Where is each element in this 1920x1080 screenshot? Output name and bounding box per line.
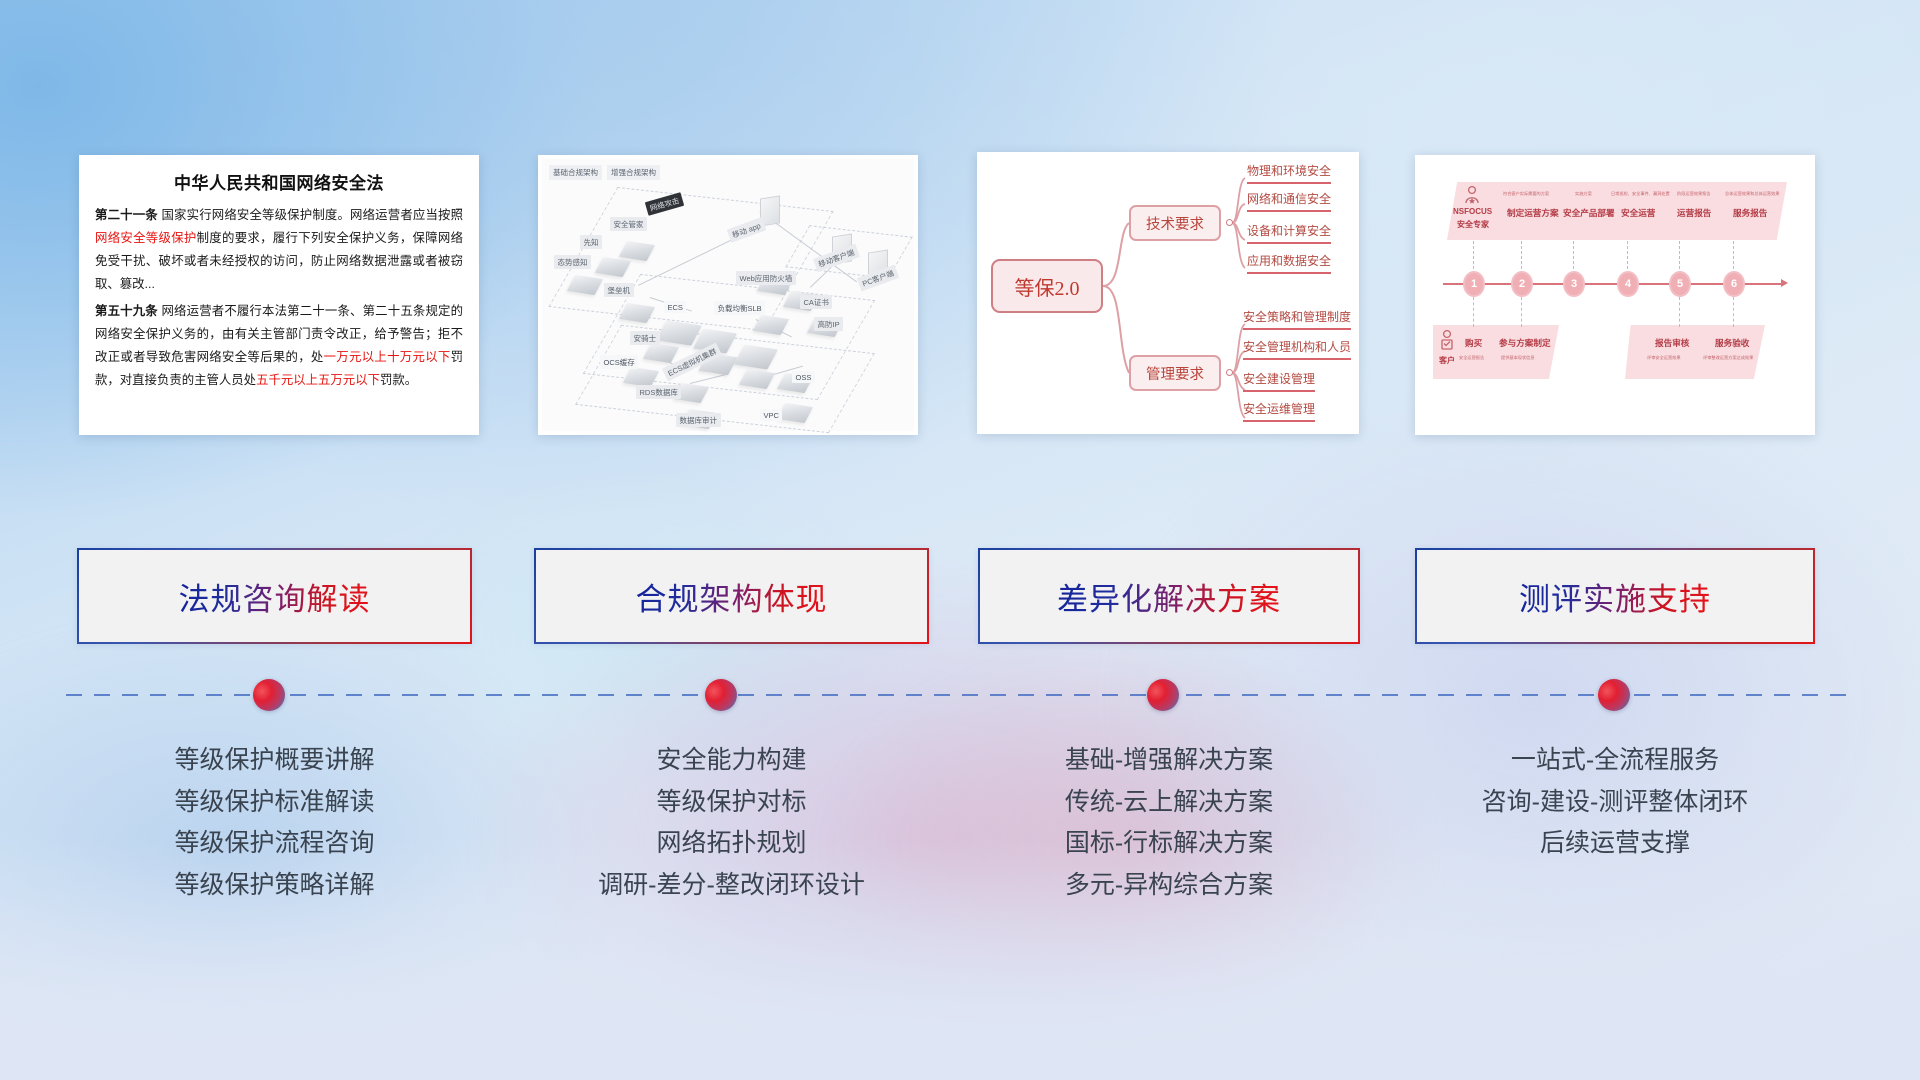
timeline-dot-4[interactable] bbox=[1598, 679, 1630, 711]
nsfocus-step-marker: 4 bbox=[1617, 271, 1639, 297]
law-paragraph: 第五十九条 网络运营者不履行本法第二十一条、第二十五条规定的网络安全保护义务的，… bbox=[95, 300, 463, 392]
nsfocus-connector bbox=[1733, 241, 1734, 269]
nsfocus-step-label: 安全运营 bbox=[1621, 207, 1655, 219]
list-item: 等级保护策略详解 bbox=[77, 865, 472, 907]
detail-column-differentiated-solution: 基础-增强解决方案 传统-云上解决方案 国标-行标解决方案 多元-异构综合方案 bbox=[978, 740, 1360, 906]
architecture-label-bastion: 堡垒机 bbox=[604, 283, 634, 297]
feature-button-differentiated-solution[interactable]: 差异化解决方案 bbox=[978, 548, 1360, 644]
list-item: 调研-差分-整改闭环设计 bbox=[534, 865, 929, 907]
card-cybersecurity-law[interactable]: 中华人民共和国网络安全法 第二十一条 国家实行网络安全等级保护制度。网络运营者应… bbox=[79, 155, 479, 435]
nsfocus-customer-step-caption: 安全运营报告 bbox=[1459, 355, 1484, 361]
detail-column-assessment-support: 一站式-全流程服务 咨询-建设-测评整体闭环 后续运营支撑 bbox=[1415, 740, 1815, 865]
nsfocus-axis-arrow bbox=[1781, 279, 1788, 287]
list-item: 咨询-建设-测评整体闭环 bbox=[1415, 782, 1815, 824]
architecture-label-db-audit: 数据库审计 bbox=[676, 413, 721, 427]
law-paragraph: 第二十一条 国家实行网络安全等级保护制度。网络运营者应当按照网络安全等级保护制度… bbox=[95, 204, 463, 296]
nsfocus-step-caption: 符合客户实际需要的方案 bbox=[1503, 191, 1549, 197]
nsfocus-step-caption: 实施方案 bbox=[1575, 191, 1592, 197]
architecture-label-ca: CA证书 bbox=[800, 295, 832, 309]
law-text-highlight: 一万元以上十万元以下 bbox=[324, 350, 451, 364]
architecture-tab-basic[interactable]: 基础合规架构 bbox=[549, 165, 602, 180]
nsfocus-connector bbox=[1679, 241, 1680, 269]
nsfocus-step-label: 运营报告 bbox=[1677, 207, 1711, 219]
nsfocus-connector bbox=[1573, 241, 1574, 269]
law-article-number: 第五十九条 bbox=[95, 304, 158, 318]
law-text: 罚款。 bbox=[380, 373, 417, 387]
nsfocus-connector bbox=[1521, 297, 1522, 327]
list-item: 等级保护标准解读 bbox=[77, 782, 472, 824]
list-item: 网络拓扑规划 bbox=[534, 823, 929, 865]
detail-column-compliance-architecture: 安全能力构建 等级保护对标 网络拓扑规划 调研-差分-整改闭环设计 bbox=[534, 740, 929, 906]
nsfocus-step-caption: 日常巡检、安全事件、漏洞处置 bbox=[1611, 191, 1670, 197]
nsfocus-step-label: 安全产品部署 bbox=[1563, 207, 1615, 219]
timeline-dashed-line bbox=[66, 694, 1856, 696]
nsfocus-customer-step-caption: 评审整改运营方案达成效果 bbox=[1703, 355, 1753, 361]
architecture-label-ocs: OCS缓存 bbox=[600, 355, 638, 369]
list-item: 多元-异构综合方案 bbox=[978, 865, 1360, 907]
nsfocus-diagram: NSFOCUS 安全专家 符合客户实际需要的方案 制定运营方案 实施方案 安全产… bbox=[1415, 155, 1815, 435]
card-mindmap-dengbao[interactable]: 等保2.0 技术要求 物理和环境安全 网络和通信安全 设备和计算安全 应用和数据… bbox=[977, 152, 1359, 434]
list-item: 等级保护对标 bbox=[534, 782, 929, 824]
mindmap-leaf: 安全建设管理 bbox=[1243, 370, 1315, 392]
feature-button-label: 差异化解决方案 bbox=[1057, 574, 1281, 619]
nsfocus-customer-step-label: 服务验收 bbox=[1715, 337, 1749, 349]
nsfocus-step-marker: 2 bbox=[1511, 271, 1533, 297]
list-item: 后续运营支撑 bbox=[1415, 823, 1815, 865]
mindmap-branch-management: 管理要求 bbox=[1129, 355, 1221, 391]
feature-button-label: 测评实施支持 bbox=[1519, 574, 1711, 619]
detail-column-regulation-consulting: 等级保护概要讲解 等级保护标准解读 等级保护流程咨询 等级保护策略详解 bbox=[77, 740, 472, 906]
expert-person-icon bbox=[1461, 185, 1483, 207]
nsfocus-customer-title: 客户 bbox=[1439, 355, 1455, 366]
law-article-number: 第二十一条 bbox=[95, 208, 158, 222]
mindmap-leaf: 安全运维管理 bbox=[1243, 400, 1315, 422]
list-item: 传统-云上解决方案 bbox=[978, 782, 1360, 824]
architecture-diagram: 基础合规架构 增强合规架构 bbox=[542, 159, 914, 431]
list-item: 安全能力构建 bbox=[534, 740, 929, 782]
law-body: 第二十一条 国家实行网络安全等级保护制度。网络运营者应当按照网络安全等级保护制度… bbox=[79, 204, 479, 392]
list-item: 一站式-全流程服务 bbox=[1415, 740, 1815, 782]
nsfocus-connector bbox=[1627, 241, 1628, 269]
nsfocus-step-caption: 阶段运营效果报告 bbox=[1677, 191, 1711, 197]
mindmap-root: 等保2.0 bbox=[991, 259, 1103, 313]
mindmap-leaf: 应用和数据安全 bbox=[1247, 252, 1331, 274]
nsfocus-step-marker: 3 bbox=[1563, 271, 1585, 297]
card-compliance-architecture[interactable]: 基础合规架构 增强合规架构 bbox=[538, 155, 918, 435]
architecture-tab-enhanced[interactable]: 增强合规架构 bbox=[607, 165, 660, 180]
nsfocus-customer-step-label: 购买 bbox=[1465, 337, 1482, 349]
nsfocus-customer-step-caption: 评审安全运营效果 bbox=[1647, 355, 1681, 361]
architecture-label-oss: OSS bbox=[792, 371, 815, 383]
list-item: 国标-行标解决方案 bbox=[978, 823, 1360, 865]
architecture-label-slb: 负载均衡SLB bbox=[714, 301, 765, 315]
feature-button-regulation-consulting[interactable]: 法规咨询解读 bbox=[77, 548, 472, 644]
timeline-dot-1[interactable] bbox=[253, 679, 285, 711]
architecture-label-anti-ddos: 高防IP bbox=[814, 317, 843, 331]
feature-button-assessment-support[interactable]: 测评实施支持 bbox=[1415, 548, 1815, 644]
customer-person-icon bbox=[1437, 329, 1457, 353]
feature-button-label: 法规咨询解读 bbox=[179, 574, 371, 619]
timeline-dot-3[interactable] bbox=[1147, 679, 1179, 711]
mindmap-leaf: 安全策略和管理制度 bbox=[1243, 308, 1351, 330]
timeline-dot-2[interactable] bbox=[705, 679, 737, 711]
mindmap: 等保2.0 技术要求 物理和环境安全 网络和通信安全 设备和计算安全 应用和数据… bbox=[977, 152, 1359, 434]
architecture-label-agent: 安骑士 bbox=[630, 331, 660, 345]
list-item: 基础-增强解决方案 bbox=[978, 740, 1360, 782]
law-text-highlight: 五千元以上五万元以下 bbox=[256, 373, 380, 387]
nsfocus-connector bbox=[1679, 297, 1680, 327]
nsfocus-step-caption: 总体运营效果和总体运营效果 bbox=[1725, 191, 1779, 197]
law-text: 国家实行网络安全等级保护制度。网络运营者应当按照 bbox=[158, 208, 463, 222]
mindmap-branch-technical: 技术要求 bbox=[1129, 205, 1221, 241]
preview-cards-row: 中华人民共和国网络安全法 第二十一条 国家实行网络安全等级保护制度。网络运营者应… bbox=[0, 0, 1920, 460]
architecture-label-rds: RDS数据库 bbox=[636, 385, 681, 399]
architecture-label-situation: 态势感知 bbox=[554, 255, 591, 269]
architecture-label-vpc: VPC bbox=[760, 409, 782, 421]
nsfocus-connector bbox=[1733, 297, 1734, 327]
nsfocus-customer-step-label: 报告审核 bbox=[1655, 337, 1689, 349]
nsfocus-expert-subtitle: 安全专家 bbox=[1457, 219, 1489, 230]
mindmap-collapse-dot[interactable] bbox=[1226, 219, 1233, 226]
nsfocus-step-marker: 1 bbox=[1463, 271, 1485, 297]
mindmap-leaf: 网络和通信安全 bbox=[1247, 190, 1331, 212]
nsfocus-step-label: 制定运营方案 bbox=[1507, 207, 1559, 219]
architecture-label-xianzhi: 先知 bbox=[580, 235, 602, 249]
mindmap-leaf: 安全管理机构和人员 bbox=[1243, 338, 1351, 360]
nsfocus-connector bbox=[1473, 297, 1474, 327]
architecture-label-ecs: ECS bbox=[664, 301, 686, 313]
law-title: 中华人民共和国网络安全法 bbox=[79, 169, 479, 194]
architecture-label-steward: 安全管家 bbox=[610, 217, 647, 231]
nsfocus-step-marker: 6 bbox=[1723, 271, 1745, 297]
list-item: 等级保护流程咨询 bbox=[77, 823, 472, 865]
mindmap-leaf: 物理和环境安全 bbox=[1247, 162, 1331, 184]
card-nsfocus-timeline[interactable]: NSFOCUS 安全专家 符合客户实际需要的方案 制定运营方案 实施方案 安全产… bbox=[1415, 155, 1815, 435]
nsfocus-expert-title: NSFOCUS bbox=[1453, 207, 1492, 216]
law-text-highlight: 网络安全等级保护 bbox=[95, 231, 197, 245]
nsfocus-step-marker: 5 bbox=[1669, 271, 1691, 297]
mindmap-collapse-dot[interactable] bbox=[1226, 369, 1233, 376]
nsfocus-step-label: 服务报告 bbox=[1733, 207, 1767, 219]
nsfocus-connector bbox=[1473, 241, 1474, 269]
list-item: 等级保护概要讲解 bbox=[77, 740, 472, 782]
nsfocus-bottom-band-right bbox=[1625, 325, 1765, 379]
feature-button-compliance-architecture[interactable]: 合规架构体现 bbox=[534, 548, 929, 644]
feature-button-label: 合规架构体现 bbox=[636, 574, 828, 619]
nsfocus-customer-step-label: 参与方案制定 bbox=[1499, 337, 1551, 349]
nsfocus-customer-step-caption: 提供基本现状信息 bbox=[1501, 355, 1535, 361]
architecture-label-waf: Web应用防火墙 bbox=[736, 271, 796, 285]
architecture-tabs: 基础合规架构 增强合规架构 bbox=[549, 165, 660, 180]
nsfocus-connector bbox=[1521, 241, 1522, 269]
mindmap-leaf: 设备和计算安全 bbox=[1247, 222, 1331, 244]
